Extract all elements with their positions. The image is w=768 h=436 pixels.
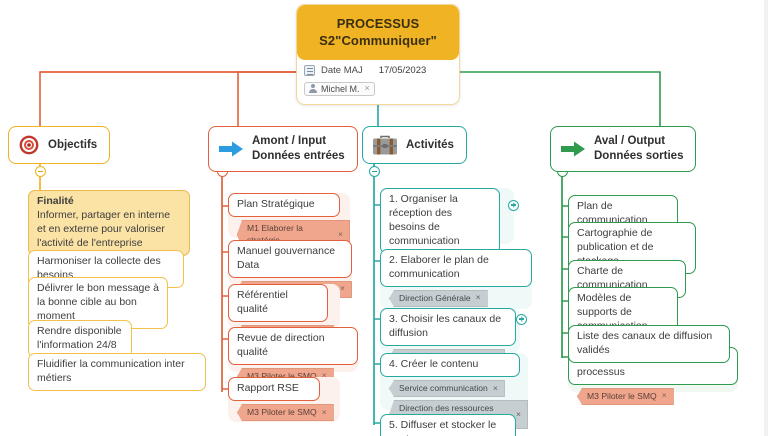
- list-item[interactable]: Finalité Informer, partager en interne e…: [28, 190, 190, 256]
- item-text: Délivrer le bon message à la bonne cible…: [37, 282, 159, 322]
- date-maj-value: 17/05/2023: [379, 65, 427, 76]
- close-icon[interactable]: ×: [338, 229, 343, 241]
- list-item-group: Revue de direction qualité M3 Piloter le…: [228, 327, 358, 372]
- list-item[interactable]: 4. Créer le contenu: [380, 353, 520, 377]
- arrow-right-icon: [218, 139, 244, 159]
- owner-name: Michel M.: [321, 84, 360, 94]
- list-item-group: 4. Créer le contenu Service communicatio…: [380, 353, 528, 410]
- list-item[interactable]: Manuel gouvernance Data: [228, 240, 352, 278]
- list-item[interactable]: Référentiel qualité: [228, 284, 328, 322]
- branch-title-aval: Aval / Output Données sorties: [594, 134, 683, 164]
- root-node[interactable]: PROCESSUS S2"Communiquer" Date MAJ 17/05…: [296, 4, 460, 105]
- branch-title-objectifs: Objectifs: [48, 138, 97, 153]
- list-item[interactable]: 3. Choisir les canaux de diffusion: [380, 308, 516, 346]
- briefcase-icon: [372, 134, 398, 156]
- collapse-toggle-activites[interactable]: [369, 166, 380, 177]
- list-item[interactable]: Rapport RSE: [228, 377, 320, 401]
- close-icon[interactable]: ×: [340, 283, 345, 295]
- expand-toggle-activity-3[interactable]: [516, 314, 527, 325]
- branch-title-amont-line2: Données entrées: [252, 150, 345, 162]
- list-item[interactable]: 2. Elaborer le plan de communication: [380, 249, 532, 287]
- owner-row: Michel M. ×: [304, 80, 452, 98]
- list-item-group: Référentiel qualité M3 Piloter le SMQ ×: [228, 284, 340, 329]
- branch-header-aval[interactable]: Aval / Output Données sorties: [550, 126, 696, 172]
- list-item[interactable]: Liste des canaux de diffusion validés: [568, 325, 730, 363]
- branch-title-amont-line1: Amont / Input: [252, 135, 326, 147]
- branch-title-aval-line2: Données sorties: [594, 150, 683, 162]
- tag-label: Direction Générale: [399, 292, 471, 304]
- item-text: Manuel gouvernance Data: [237, 245, 335, 271]
- root-title-line1: PROCESSUS: [337, 16, 420, 31]
- calendar-icon: [304, 65, 315, 76]
- item-text: Référentiel qualité: [237, 289, 288, 315]
- close-icon[interactable]: ×: [516, 409, 521, 421]
- branch-header-amont[interactable]: Amont / Input Données entrées: [208, 126, 358, 172]
- arrow-right-icon: [560, 139, 586, 159]
- item-text: Fluidifier la communication inter métier…: [37, 358, 185, 384]
- branch-title-activites: Activités: [406, 138, 454, 153]
- tag-chip[interactable]: Direction Générale ×: [389, 290, 488, 307]
- list-item[interactable]: 5. Diffuser et stocker le contenu: [380, 414, 516, 436]
- root-metadata: Date MAJ 17/05/2023 Michel M. ×: [297, 60, 459, 104]
- tag-chip[interactable]: Service communication ×: [389, 380, 505, 397]
- item-text: 1. Organiser la réception des besoins de…: [389, 193, 460, 247]
- list-item[interactable]: Plan Stratégique: [228, 193, 340, 217]
- list-item-group: Plan Stratégique M1 Elaborer la stratégi…: [228, 193, 350, 238]
- branch-header-objectifs[interactable]: Objectifs: [8, 126, 110, 164]
- branch-header-activites[interactable]: Activités: [362, 126, 467, 164]
- item-text: 2. Elaborer le plan de communication: [389, 254, 489, 280]
- person-icon: [308, 84, 317, 93]
- tag-chip[interactable]: M3 Piloter le SMQ ×: [237, 404, 334, 421]
- item-text: Liste des canaux de diffusion validés: [577, 330, 712, 356]
- close-icon[interactable]: ×: [322, 407, 327, 419]
- tag-chip[interactable]: M3 Piloter le SMQ ×: [577, 388, 674, 405]
- item-text: Rendre disponible l'information 24/8: [37, 325, 122, 351]
- item-text: 4. Créer le contenu: [389, 358, 478, 370]
- list-item-group: Rapport RSE M3 Piloter le SMQ ×: [228, 377, 340, 422]
- root-title: PROCESSUS S2"Communiquer": [297, 5, 459, 60]
- list-item[interactable]: Revue de direction qualité: [228, 327, 358, 365]
- item-text: 3. Choisir les canaux de diffusion: [389, 313, 501, 339]
- branch-title-amont: Amont / Input Données entrées: [252, 134, 345, 164]
- collapse-toggle-objectifs[interactable]: [35, 166, 46, 177]
- list-item-group: Manuel gouvernance Data M2 Gouverner la …: [228, 240, 352, 285]
- mindmap-canvas: PROCESSUS S2"Communiquer" Date MAJ 17/05…: [0, 0, 768, 436]
- scrollbar-track[interactable]: [764, 0, 768, 436]
- date-maj-label: Date MAJ: [321, 65, 363, 76]
- owner-chip[interactable]: Michel M. ×: [304, 82, 375, 96]
- branch-title-aval-line1: Aval / Output: [594, 135, 665, 147]
- item-text: Rapport RSE: [237, 382, 299, 394]
- close-icon[interactable]: ×: [662, 390, 667, 402]
- root-title-line2: S2"Communiquer": [319, 33, 437, 48]
- item-text: Revue de direction qualité: [237, 332, 325, 358]
- close-icon[interactable]: ×: [364, 84, 370, 93]
- expand-toggle-activity-1[interactable]: [508, 200, 519, 211]
- list-item[interactable]: 1. Organiser la réception des besoins de…: [380, 188, 500, 254]
- tag-label: M3 Piloter le SMQ: [587, 390, 657, 402]
- item-text: 5. Diffuser et stocker le contenu: [389, 419, 496, 436]
- close-icon[interactable]: ×: [493, 383, 498, 395]
- item-text: Informer, partager en interne et en exte…: [37, 209, 170, 249]
- close-icon[interactable]: ×: [476, 292, 481, 304]
- date-maj-row: Date MAJ 17/05/2023: [304, 65, 452, 76]
- item-heading: Finalité: [37, 195, 181, 209]
- item-text: Plan Stratégique: [237, 198, 315, 210]
- tag-label: Service communication: [399, 382, 488, 394]
- list-item[interactable]: Fluidifier la communication inter métier…: [28, 353, 206, 391]
- list-item-group: 1. Organiser la réception des besoins de…: [380, 188, 514, 244]
- target-icon: [18, 134, 40, 156]
- list-item-group: 3. Choisir les canaux de diffusion Servi…: [380, 308, 520, 353]
- list-item-group: 2. Elaborer le plan de communication Dir…: [380, 249, 532, 309]
- tag-label: M3 Piloter le SMQ: [247, 406, 317, 418]
